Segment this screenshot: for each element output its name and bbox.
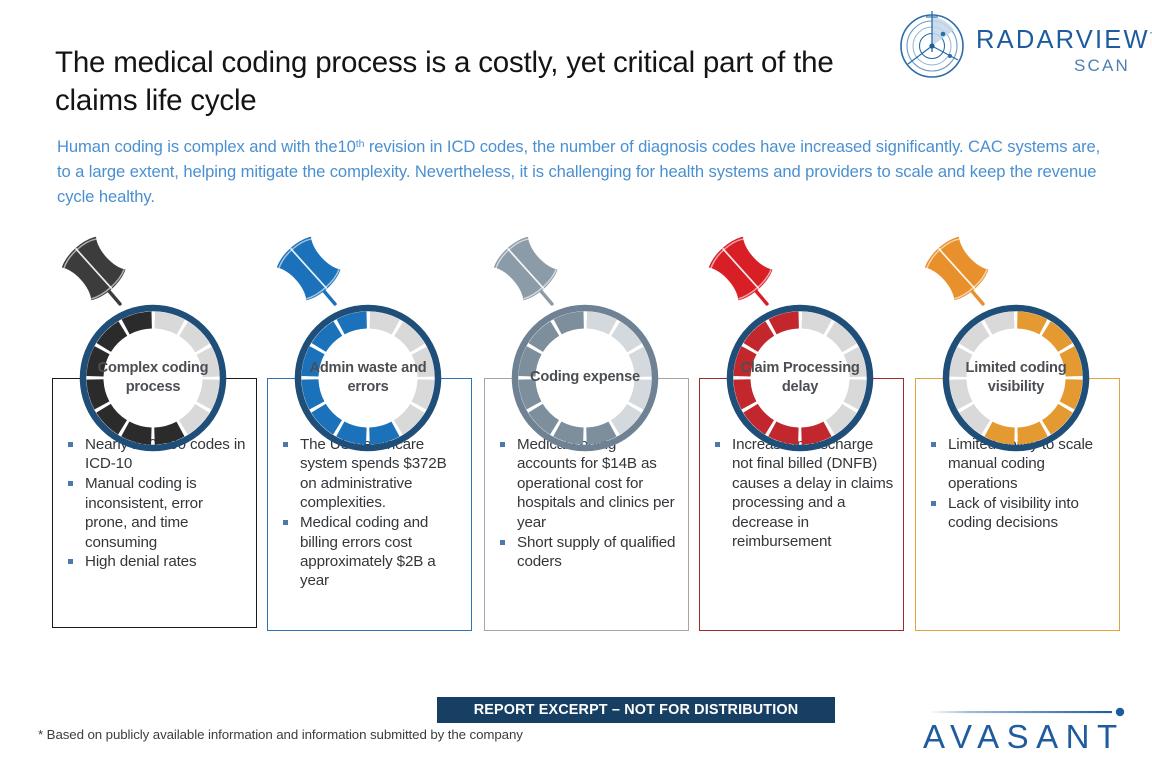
- insight-donut: Admin waste and errors: [294, 304, 442, 452]
- radarview-logo: RADARVIEWTM SCAN: [898, 8, 1148, 86]
- insight-column-5: Limited ability to scale manual coding o…: [915, 228, 1120, 638]
- insight-bullet: Manual coding is inconsistent, error pro…: [61, 474, 246, 552]
- insight-donut-label: Coding expense: [511, 304, 659, 452]
- avasant-wordmark: AVASANT: [923, 718, 1128, 756]
- insight-bullet: High denial rates: [61, 552, 246, 571]
- insight-donut-label: Limited coding visibility: [942, 304, 1090, 452]
- insight-bullet: Lack of visibility into coding decisions: [924, 494, 1109, 533]
- source-footnote: * Based on publicly available informatio…: [38, 727, 523, 742]
- pushpin-icon-red: [697, 228, 793, 324]
- page-title: The medical coding process is a costly, …: [55, 44, 885, 120]
- radarview-wordmark-text: RADARVIEW: [976, 26, 1150, 54]
- pushpin-icon-blue: [265, 228, 361, 324]
- insight-column-1: Nearly 150,000 codes in ICD-10Manual cod…: [52, 228, 257, 638]
- insight-bullet-list: Increase in discharge not final billed (…: [708, 435, 893, 551]
- insight-column-3: Medical coding accounts for $14B as oper…: [484, 228, 689, 638]
- insight-bullet: Increase in discharge not final billed (…: [708, 435, 893, 551]
- subtitle-part-1: Human coding is complex and with the10: [57, 137, 356, 156]
- insight-column-2: The US healthcare system spends $372B on…: [267, 228, 472, 638]
- radarview-subtitle: SCAN: [1074, 56, 1130, 76]
- insight-bullet-list: The US healthcare system spends $372B on…: [276, 435, 461, 591]
- radar-scan-icon: [898, 8, 970, 80]
- page-subtitle: Human coding is complex and with the10th…: [57, 132, 1102, 209]
- insight-bullet: Short supply of qualified coders: [493, 533, 678, 572]
- insight-donut-label: Complex coding process: [79, 304, 227, 452]
- insight-column-4: Increase in discharge not final billed (…: [699, 228, 904, 638]
- insight-bullet-list: Medical coding accounts for $14B as oper…: [493, 435, 678, 571]
- insight-donut: Complex coding process: [79, 304, 227, 452]
- insight-donut-label: Claim Processing delay: [726, 304, 874, 452]
- pushpin-icon-dark: [50, 228, 146, 324]
- pushpin-icon-gray: [482, 228, 578, 324]
- insight-donut: Limited coding visibility: [942, 304, 1090, 452]
- radarview-wordmark: RADARVIEWTM: [976, 26, 1152, 55]
- insight-donut-label: Admin waste and errors: [294, 304, 442, 452]
- slide-canvas: RADARVIEWTM SCAN The medical coding proc…: [0, 0, 1152, 768]
- insight-donut: Claim Processing delay: [726, 304, 874, 452]
- avasant-logo: AVASANT: [923, 700, 1128, 758]
- insight-donut: Coding expense: [511, 304, 659, 452]
- report-excerpt-banner: REPORT EXCERPT – NOT FOR DISTRIBUTION: [437, 697, 835, 723]
- insight-bullet: Medical coding and billing errors cost a…: [276, 513, 461, 591]
- insight-bullet-list: Nearly 150,000 codes in ICD-10Manual cod…: [61, 435, 246, 572]
- pushpin-icon-orange: [913, 228, 1009, 324]
